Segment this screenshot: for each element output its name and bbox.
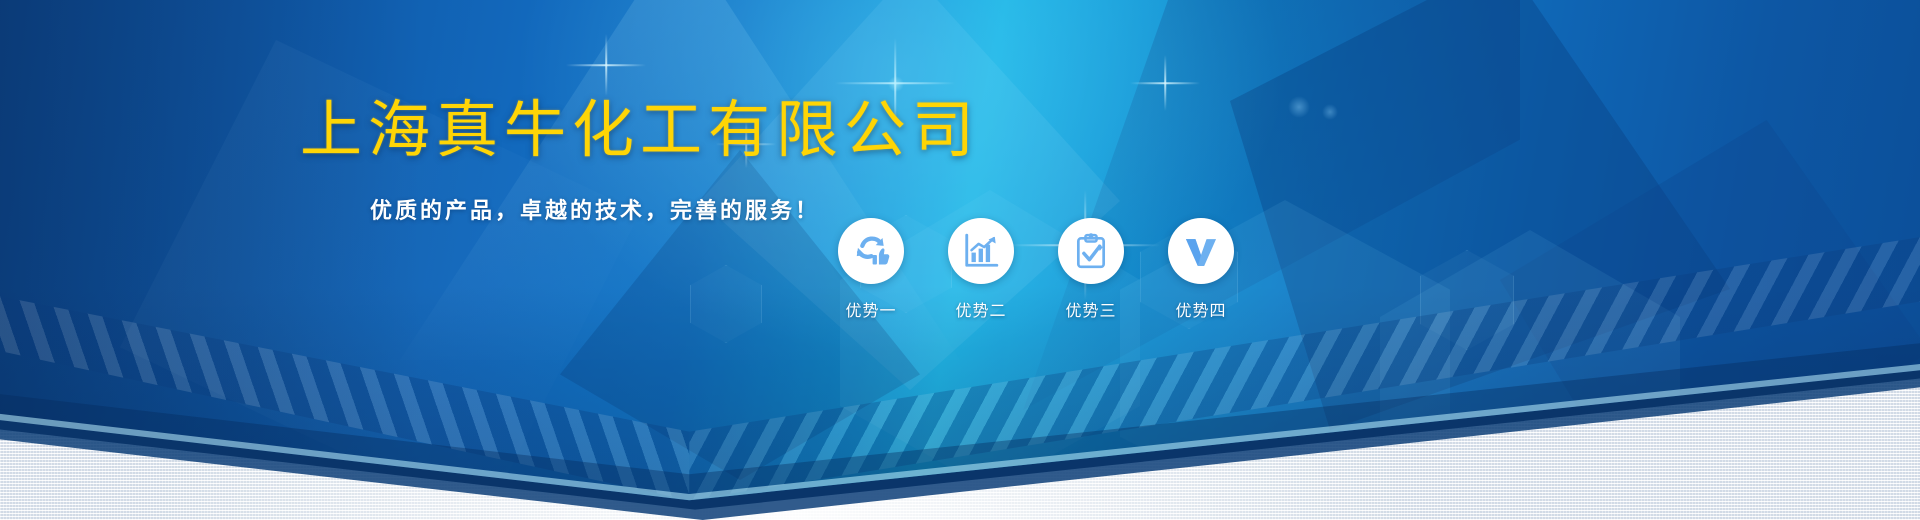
advantage-item-1[interactable]: 优势一: [816, 218, 926, 328]
page-title: 上海真牛化工有限公司: [300, 95, 980, 167]
advantage-icon-circle-3: [1058, 218, 1124, 284]
clipboard-check-icon: [1072, 232, 1110, 270]
page-subtitle: 优质的产品，卓越的技术，完善的服务！: [370, 196, 820, 226]
advantage-label-1: 优势一: [845, 297, 896, 321]
advantage-icon-circle-1: [838, 218, 904, 284]
advantage-item-3[interactable]: 优势三: [1036, 218, 1146, 328]
refresh-thumbsup-icon: [852, 232, 890, 270]
advantage-item-2[interactable]: 优势二: [926, 218, 1036, 328]
v-checkmark-icon: [1182, 232, 1220, 270]
company-hero-banner: 上海真牛化工有限公司 优质的产品，卓越的技术，完善的服务！ 优势一: [0, 0, 1920, 520]
advantage-label-3: 优势三: [1065, 297, 1116, 321]
advantage-icon-circle-4: [1168, 218, 1234, 284]
advantage-label-2: 优势二: [955, 297, 1006, 321]
advantages-list: 优势一 优势二: [816, 218, 1256, 328]
advantage-label-4: 优势四: [1175, 297, 1226, 321]
advantage-item-4[interactable]: 优势四: [1146, 218, 1256, 328]
bar-chart-growth-icon: [962, 232, 1000, 270]
advantage-icon-circle-2: [948, 218, 1014, 284]
